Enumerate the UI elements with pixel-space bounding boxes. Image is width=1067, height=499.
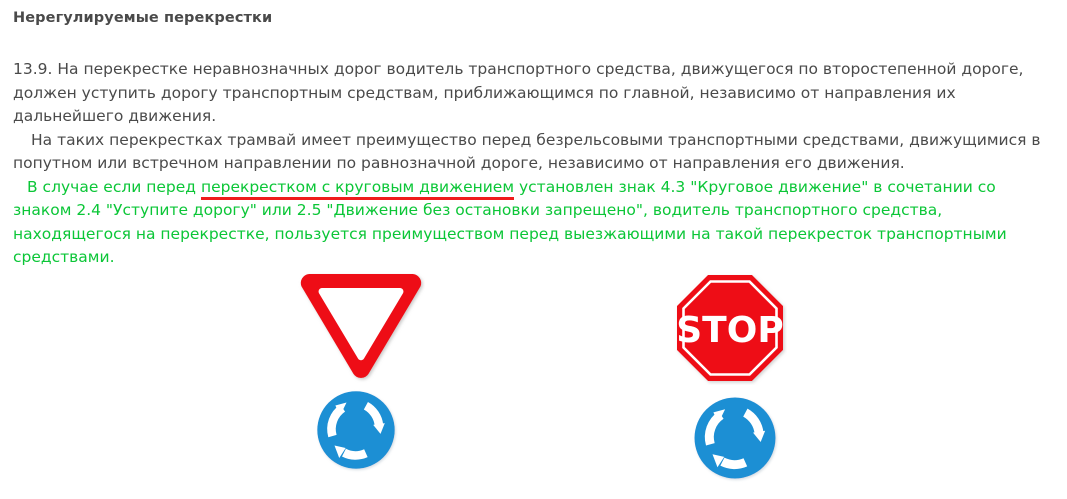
stop-sign-icon: STOP — [673, 271, 787, 385]
sign-group-stop-roundabout: STOP — [650, 250, 860, 499]
document-page: Нерегулируемые перекрестки 13.9. На пере… — [0, 0, 1067, 499]
roundabout-sign-icon — [313, 385, 399, 475]
page-title: Нерегулируемые перекрестки — [13, 10, 272, 26]
paragraph-tram: На таких перекрестках трамвай имеет преи… — [13, 129, 1055, 176]
sign-group-yield-roundabout — [275, 250, 485, 499]
sign-slot-top-right: STOP — [650, 250, 860, 385]
article-body: 13.9. На перекрестке неравнозначных доро… — [13, 58, 1055, 270]
stop-sign-label: STOP — [676, 310, 783, 351]
road-signs-illustration: STOP — [0, 250, 1067, 499]
sign-slot-bottom-left — [275, 385, 485, 495]
paragraph-tram-text: На таких перекрестках трамвай имеет преи… — [13, 131, 1041, 173]
underlined-phrase-roundabout-intersection: перекрестком с круговым движением — [201, 178, 514, 200]
paragraph-13-9-text: 13.9. На перекрестке неравнозначных доро… — [13, 60, 1023, 125]
paragraph-13-9: 13.9. На перекрестке неравнозначных доро… — [13, 58, 1055, 129]
sign-slot-bottom-right — [650, 385, 860, 495]
yield-sign-icon — [297, 268, 425, 383]
roundabout-sign-icon-2 — [690, 392, 780, 484]
sign-slot-top-left — [275, 250, 485, 385]
paragraph-roundabout-lead: В случае если перед — [27, 178, 201, 196]
